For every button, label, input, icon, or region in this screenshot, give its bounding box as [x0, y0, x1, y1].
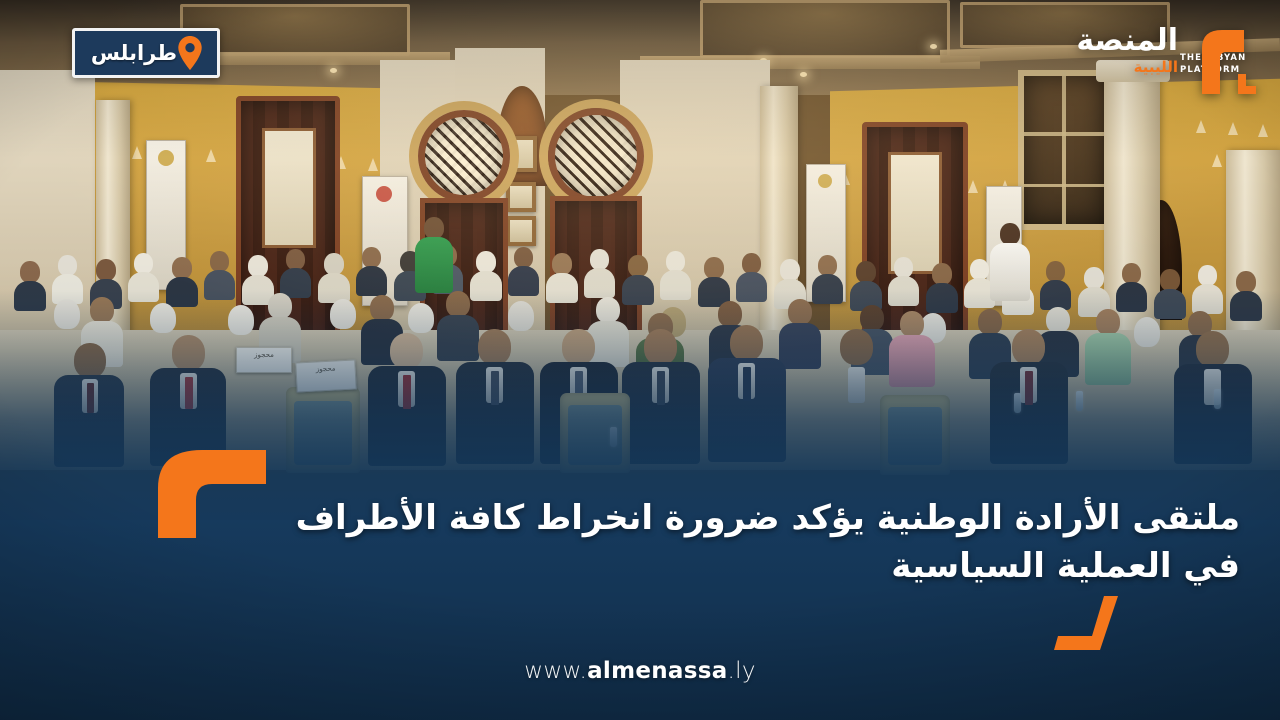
framed-picture	[506, 182, 536, 212]
site-logo[interactable]: المنصة الليبية THE LIBYAN PLATFORM	[1076, 18, 1258, 98]
chair-seat	[294, 401, 352, 465]
banner-badge	[376, 186, 392, 202]
lattice-window-left	[418, 110, 510, 202]
url-prefix: www.	[524, 658, 587, 684]
water-bottle	[1076, 391, 1083, 411]
ceiling-downlight	[330, 68, 337, 73]
wall-ornament	[1258, 124, 1268, 137]
logo-text: المنصة الليبية	[1076, 18, 1178, 76]
wall-ornament	[206, 149, 216, 162]
ceiling-downlight	[930, 44, 937, 49]
footer-website-url[interactable]: www.almenassa.ly	[0, 658, 1280, 684]
window-mullion	[1020, 184, 1108, 187]
map-pin-icon	[177, 36, 203, 70]
wall-ornament	[968, 180, 978, 193]
reserved-sign: محجوز	[295, 359, 356, 392]
water-bottle	[1014, 393, 1021, 413]
window-mullion	[1062, 72, 1066, 228]
wall-ornament	[132, 146, 142, 159]
headline-line-1: ملتقى الأرادة الوطنية يؤكد ضرورة انخراط …	[230, 494, 1240, 542]
url-tld: .ly	[728, 658, 756, 684]
water-bottle	[610, 427, 617, 447]
wall-ornament	[1212, 154, 1222, 167]
water-bottle	[1214, 389, 1221, 409]
ceiling-panel	[700, 0, 950, 58]
url-name: almenassa	[587, 658, 727, 684]
lattice-window-right	[548, 108, 644, 204]
logo-arabic-main: المنصة	[1076, 26, 1178, 56]
headline: ملتقى الأرادة الوطنية يؤكد ضرورة انخراط …	[230, 494, 1240, 591]
logo-arabic-sub: الليبية	[1134, 58, 1178, 76]
wall-ornament	[1196, 120, 1206, 133]
banner-badge	[818, 174, 832, 188]
wall-ornament	[368, 158, 378, 171]
location-label: طرابلس	[91, 41, 177, 65]
wall-ornament	[1228, 122, 1238, 135]
chair-seat	[888, 407, 942, 465]
banner-badge	[158, 150, 174, 166]
orange-angle-decoration	[1054, 596, 1150, 658]
headline-line-2: في العملية السياسية	[230, 542, 1240, 590]
logo-hook-mark: THE LIBYAN PLATFORM	[1182, 18, 1258, 98]
reserved-sign: محجوز	[236, 347, 292, 373]
location-badge[interactable]: طرابلس	[72, 28, 220, 78]
news-card: محجوز محجوز طرابلس المنصة الليبية	[0, 0, 1280, 720]
window-mullion	[1020, 132, 1108, 136]
ceiling-downlight	[800, 72, 807, 77]
